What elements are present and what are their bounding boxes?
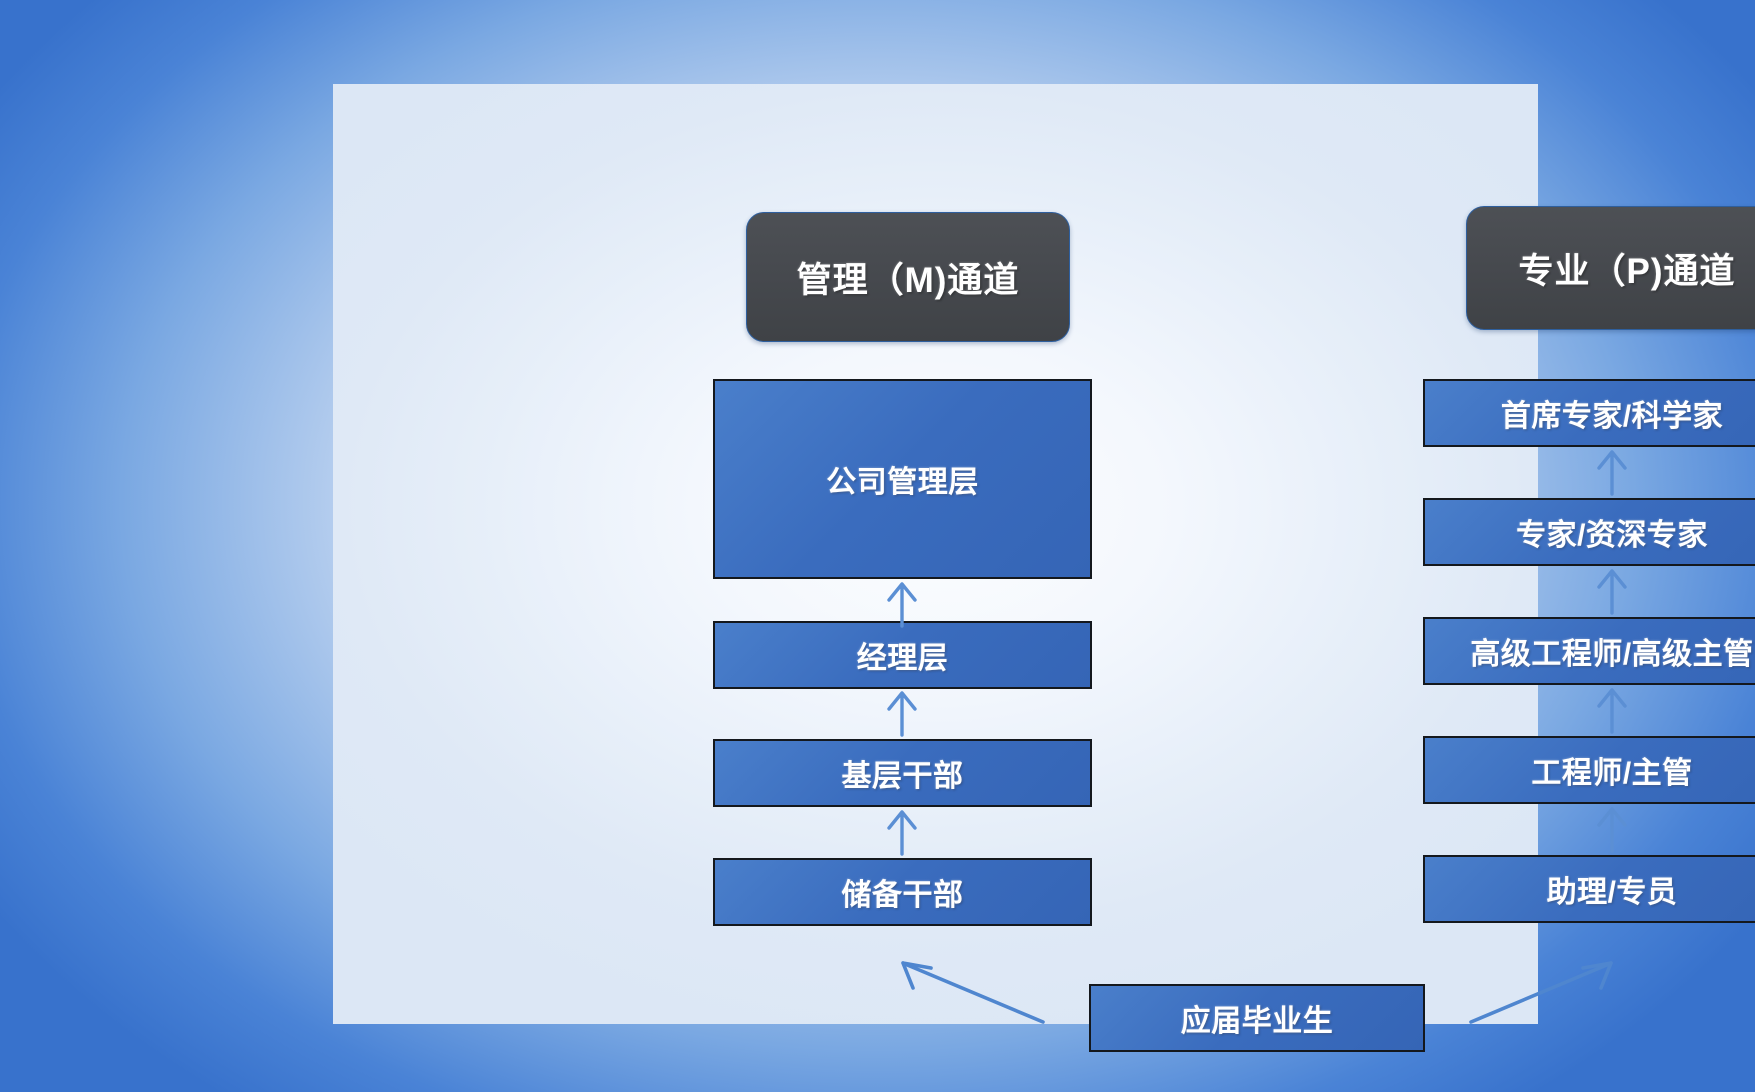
entry-to-management-arrow-icon [893, 956, 1053, 1028]
professional-level-box: 助理/专员 [1423, 855, 1755, 923]
up-arrow-icon [881, 689, 923, 737]
diagram-canvas: 管理（M)通道 专业（P)通道 公司管理层 经理层 基层干部 储备干部 首席专家… [333, 84, 1538, 1024]
professional-level-box: 高级工程师/高级主管 [1423, 617, 1755, 685]
professional-channel-header: 专业（P)通道 [1466, 206, 1755, 330]
management-level-box: 公司管理层 [713, 379, 1092, 579]
up-arrow-icon [1591, 805, 1633, 853]
management-level-box: 经理层 [713, 621, 1092, 689]
up-arrow-icon [1591, 448, 1633, 496]
management-level-box: 基层干部 [713, 739, 1092, 807]
up-arrow-icon [881, 580, 923, 628]
professional-level-box: 首席专家/科学家 [1423, 379, 1755, 447]
up-arrow-icon [1591, 567, 1633, 615]
professional-level-box: 专家/资深专家 [1423, 498, 1755, 566]
professional-level-box: 工程师/主管 [1423, 736, 1755, 804]
management-channel-header: 管理（M)通道 [746, 212, 1070, 342]
up-arrow-icon [881, 808, 923, 856]
entry-graduate-box: 应届毕业生 [1089, 984, 1425, 1052]
up-arrow-icon [1591, 686, 1633, 734]
management-level-box: 储备干部 [713, 858, 1092, 926]
